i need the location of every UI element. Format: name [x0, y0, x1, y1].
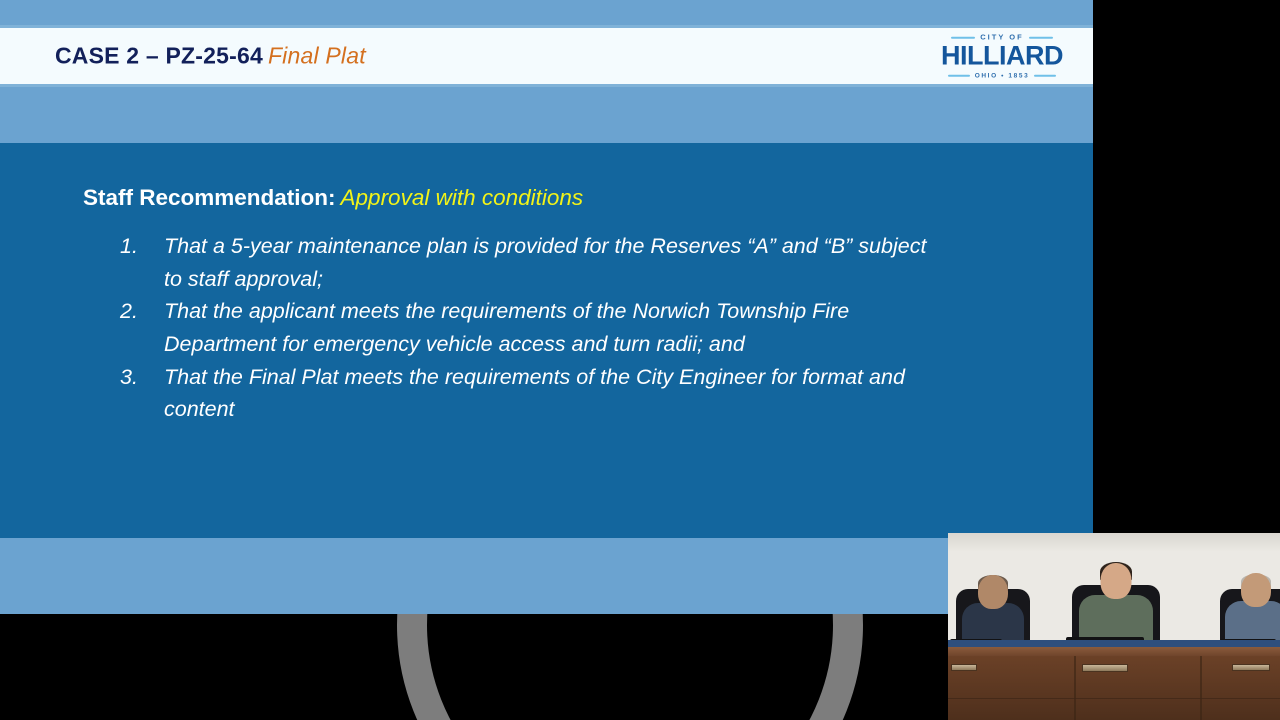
logo-rule-lower-right-icon — [1034, 75, 1056, 77]
council-member-left — [950, 559, 1036, 647]
logo-hilliard-text: HILLIARD — [939, 43, 1065, 71]
page-title: CASE 2 – PZ-25-64Final Plat — [55, 43, 366, 70]
slide-header-bar: CASE 2 – PZ-25-64Final Plat CITY OF HILL… — [0, 25, 1093, 87]
conditions-list: 1. That a 5-year maintenance plan is pro… — [120, 230, 950, 426]
logo-rule-left-icon — [951, 36, 975, 38]
condition-number: 1. — [120, 230, 164, 263]
list-item: 3. That the Final Plat meets the require… — [120, 361, 950, 426]
condition-text: That a 5-year maintenance plan is provid… — [164, 230, 950, 295]
condition-number: 3. — [120, 361, 164, 394]
slide-bottom-band — [0, 538, 1093, 614]
desk-surface — [948, 647, 1280, 656]
head — [1241, 573, 1271, 607]
logo-bottom-row: OHIO • 1853 — [939, 72, 1065, 79]
condition-text: That the applicant meets the requirement… — [164, 295, 950, 360]
list-item: 2. That the applicant meets the requirem… — [120, 295, 950, 360]
staff-recommendation: Staff Recommendation:Approval with condi… — [83, 185, 583, 211]
desk-top-trim — [948, 640, 1280, 647]
nameplate — [1232, 664, 1270, 671]
case-title-accent: Final Plat — [268, 43, 366, 69]
logo-rule-right-icon — [1029, 36, 1053, 38]
council-member-right — [1216, 555, 1280, 647]
staff-recommendation-value: Approval with conditions — [341, 185, 584, 210]
desk-seam-left — [1074, 656, 1076, 720]
screen: CASE 2 – PZ-25-64Final Plat CITY OF HILL… — [0, 0, 1280, 720]
desk-ledge — [948, 698, 1280, 700]
head — [978, 575, 1008, 609]
desk-seam-right — [1200, 656, 1202, 720]
nameplate — [1082, 664, 1128, 672]
condition-number: 2. — [120, 295, 164, 328]
nameplate — [951, 664, 977, 671]
slide-top-band — [0, 0, 1093, 25]
presentation-slide: CASE 2 – PZ-25-64Final Plat CITY OF HILL… — [0, 0, 1093, 614]
staff-recommendation-label: Staff Recommendation: — [83, 185, 336, 210]
council-camera-feed — [948, 533, 1280, 720]
list-item: 1. That a 5-year maintenance plan is pro… — [120, 230, 950, 295]
logo-rule-lower-left-icon — [948, 75, 970, 77]
council-member-center — [1064, 543, 1168, 647]
slide-body: Staff Recommendation:Approval with condi… — [0, 143, 1093, 538]
case-title-main: CASE 2 – PZ-25-64 — [55, 43, 263, 69]
slide-mid-band — [0, 87, 1093, 143]
head — [1101, 563, 1132, 599]
logo-ohio-year-text: OHIO • 1853 — [975, 72, 1030, 79]
hilliard-logo: CITY OF HILLIARD OHIO • 1853 — [939, 33, 1065, 80]
condition-text: That the Final Plat meets the requiremen… — [164, 361, 950, 426]
